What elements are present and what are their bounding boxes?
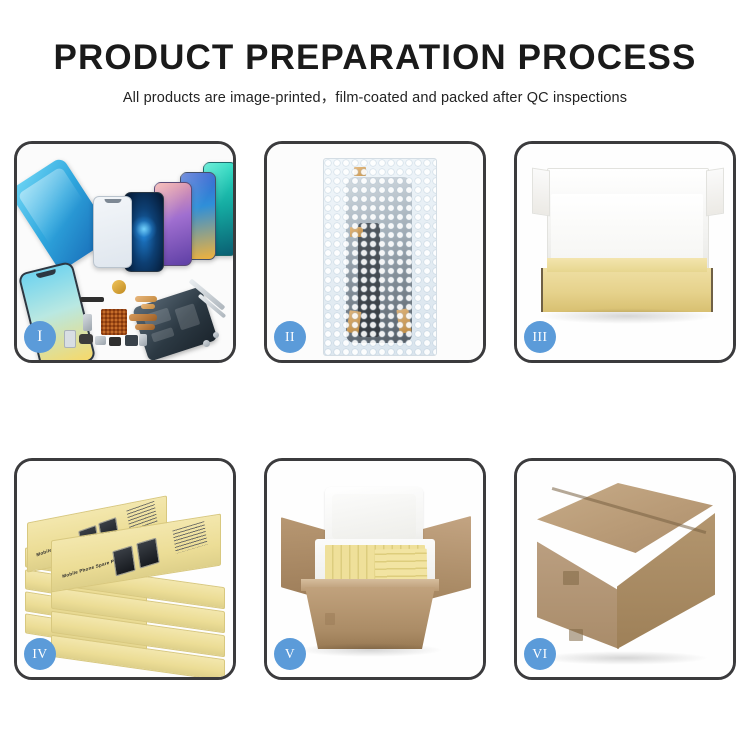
- step-badge-6: VI: [524, 638, 556, 670]
- camera-module-part: [79, 334, 93, 344]
- page-header: PRODUCT PREPARATION PROCESS All products…: [0, 0, 750, 125]
- step-badge-5: V: [274, 638, 306, 670]
- notch: [104, 199, 121, 203]
- sim-tray-part: [83, 314, 92, 331]
- tray-edge-left: [541, 268, 543, 312]
- page-title: PRODUCT PREPARATION PROCESS: [0, 38, 750, 78]
- lid-wing-left: [532, 168, 550, 217]
- box-product-image: [136, 538, 159, 569]
- drop-shadow: [297, 643, 443, 657]
- housing-segment: [151, 327, 175, 342]
- carton-tape-mark: [325, 613, 335, 625]
- flex-cable-part: [135, 296, 157, 302]
- step-badge-1: I: [24, 321, 56, 353]
- bubble-texture: [324, 159, 436, 355]
- front-glass-panel: [93, 196, 132, 268]
- drop-shadow: [539, 308, 715, 324]
- process-step-2: II: [264, 141, 486, 363]
- step-badge-2: II: [274, 321, 306, 353]
- box-stack: Mobile Phone Spare Parts Mobile Phone Sp…: [23, 479, 229, 669]
- taptic-part: [125, 335, 138, 346]
- screw-part: [203, 340, 210, 347]
- screw-plate-part: [139, 334, 147, 346]
- antenna-flex-part: [129, 314, 157, 321]
- step-badge-3: III: [524, 321, 556, 353]
- tray-edge-right: [711, 268, 713, 312]
- sealed-carton: [533, 483, 721, 661]
- bracket-part: [95, 336, 106, 345]
- carton-tape-mark: [563, 571, 579, 585]
- lid-wing-right: [706, 168, 724, 217]
- process-step-grid: I II: [14, 141, 736, 721]
- process-step-1: I: [14, 141, 236, 363]
- drop-shadow: [539, 651, 709, 665]
- process-step-5: V: [264, 458, 486, 680]
- loudspeaker-part: [109, 337, 121, 346]
- glass-chip-part: [64, 330, 76, 348]
- bubble-wrap-bag: [323, 158, 437, 356]
- process-step-3: III: [514, 141, 736, 363]
- yellow-box-tray: [541, 268, 713, 312]
- screw-part: [213, 332, 219, 338]
- vibrator-part: [80, 297, 104, 302]
- carton-tape-mark: [569, 629, 583, 641]
- page-subtitle: All products are image-printed，film-coat…: [0, 86, 750, 107]
- process-step-6: VI: [514, 458, 736, 680]
- antenna-flex-part: [135, 324, 155, 330]
- logic-board-part: [101, 309, 127, 335]
- process-step-4: Mobile Phone Spare Parts Mobile Phone Sp…: [14, 458, 236, 680]
- tray-lip: [547, 258, 707, 272]
- box-product-image: [112, 545, 135, 576]
- flex-cable-part: [141, 304, 155, 309]
- speaker-coil-part: [112, 280, 126, 294]
- box-spec-lines: [172, 521, 207, 554]
- notch: [36, 269, 57, 279]
- housing-segment: [174, 303, 200, 330]
- step-badge-4: IV: [24, 638, 56, 670]
